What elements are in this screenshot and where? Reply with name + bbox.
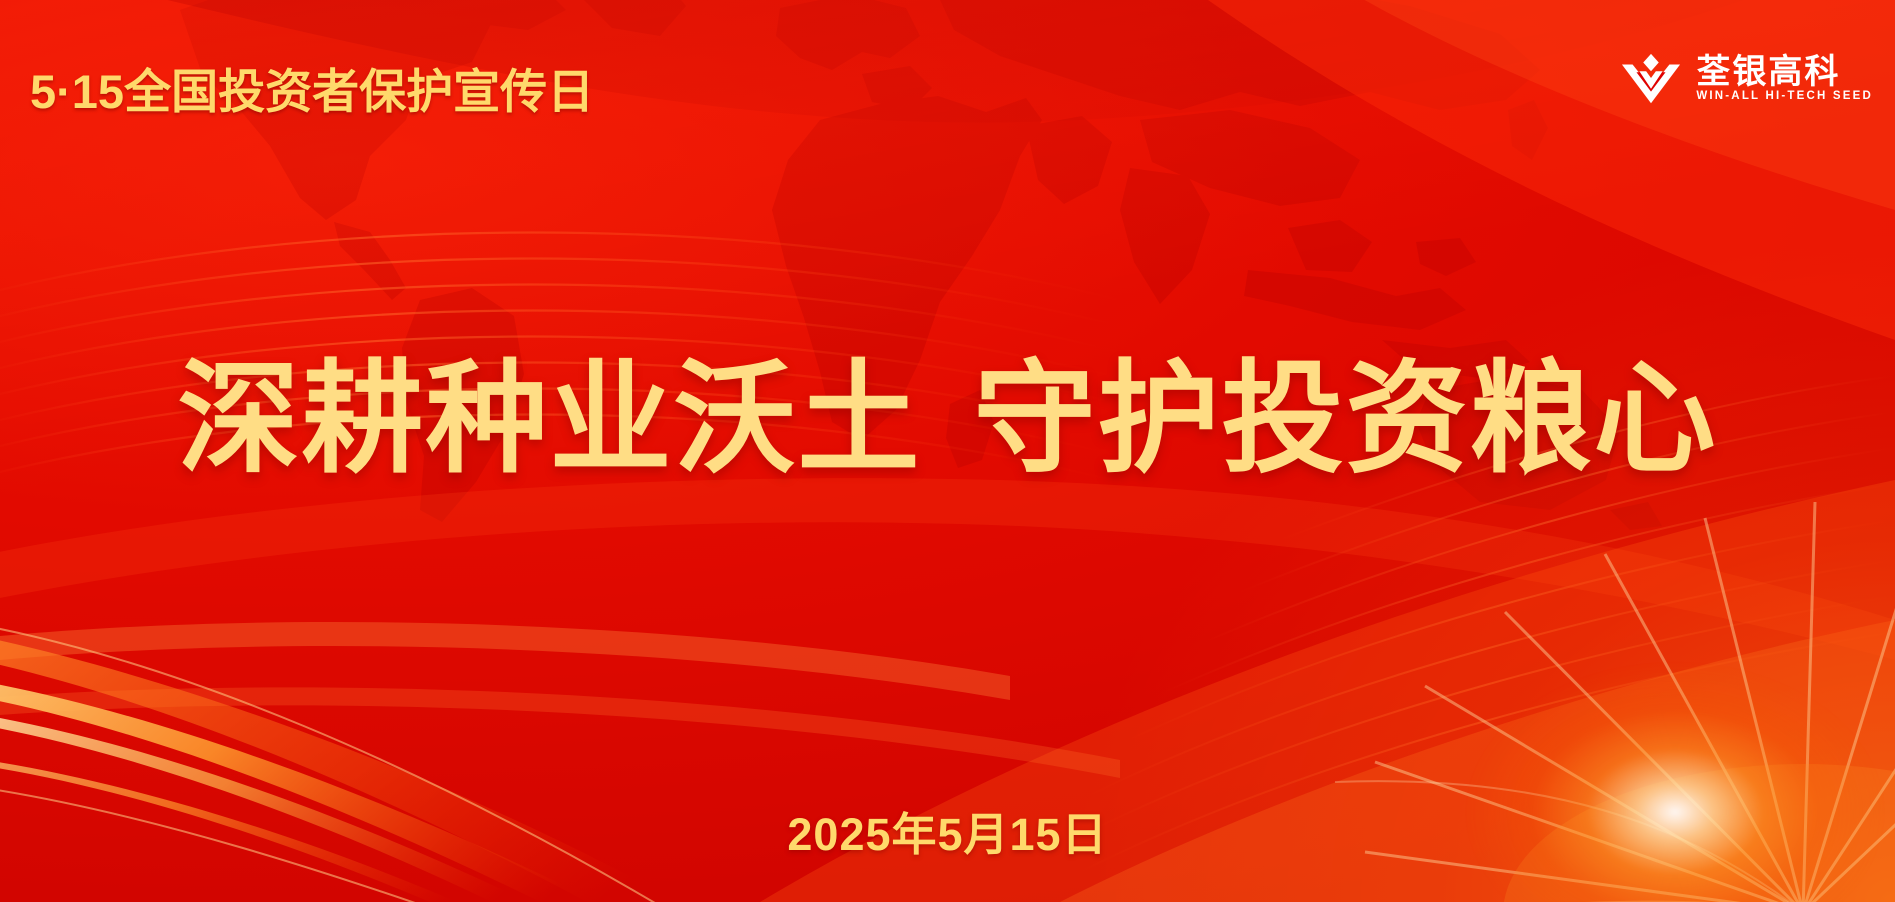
headline-part-1: 深耕种业沃土 — [178, 351, 922, 487]
page-title: 深耕种业沃土守护投资粮心 — [0, 348, 1895, 492]
campaign-kicker: 5·15全国投资者保护宣传日 — [30, 53, 594, 122]
logo-wordmark: 荃银高科 WIN-ALL HI-TECH SEED — [1696, 55, 1873, 103]
win-all-chevron-logo-icon — [1620, 48, 1682, 110]
logo-company-en: WIN-ALL HI-TECH SEED — [1696, 91, 1873, 103]
event-date: 2025年5月15日 — [0, 798, 1895, 863]
headline-part-2: 守护投资粮心 — [974, 351, 1718, 487]
company-logo[interactable]: 荃银高科 WIN-ALL HI-TECH SEED — [1620, 48, 1873, 110]
logo-company-cn: 荃银高科 — [1696, 55, 1873, 89]
poster-canvas: 5·15全国投资者保护宣传日 荃银高科 WIN-ALL HI-TECH SEED… — [0, 0, 1895, 902]
